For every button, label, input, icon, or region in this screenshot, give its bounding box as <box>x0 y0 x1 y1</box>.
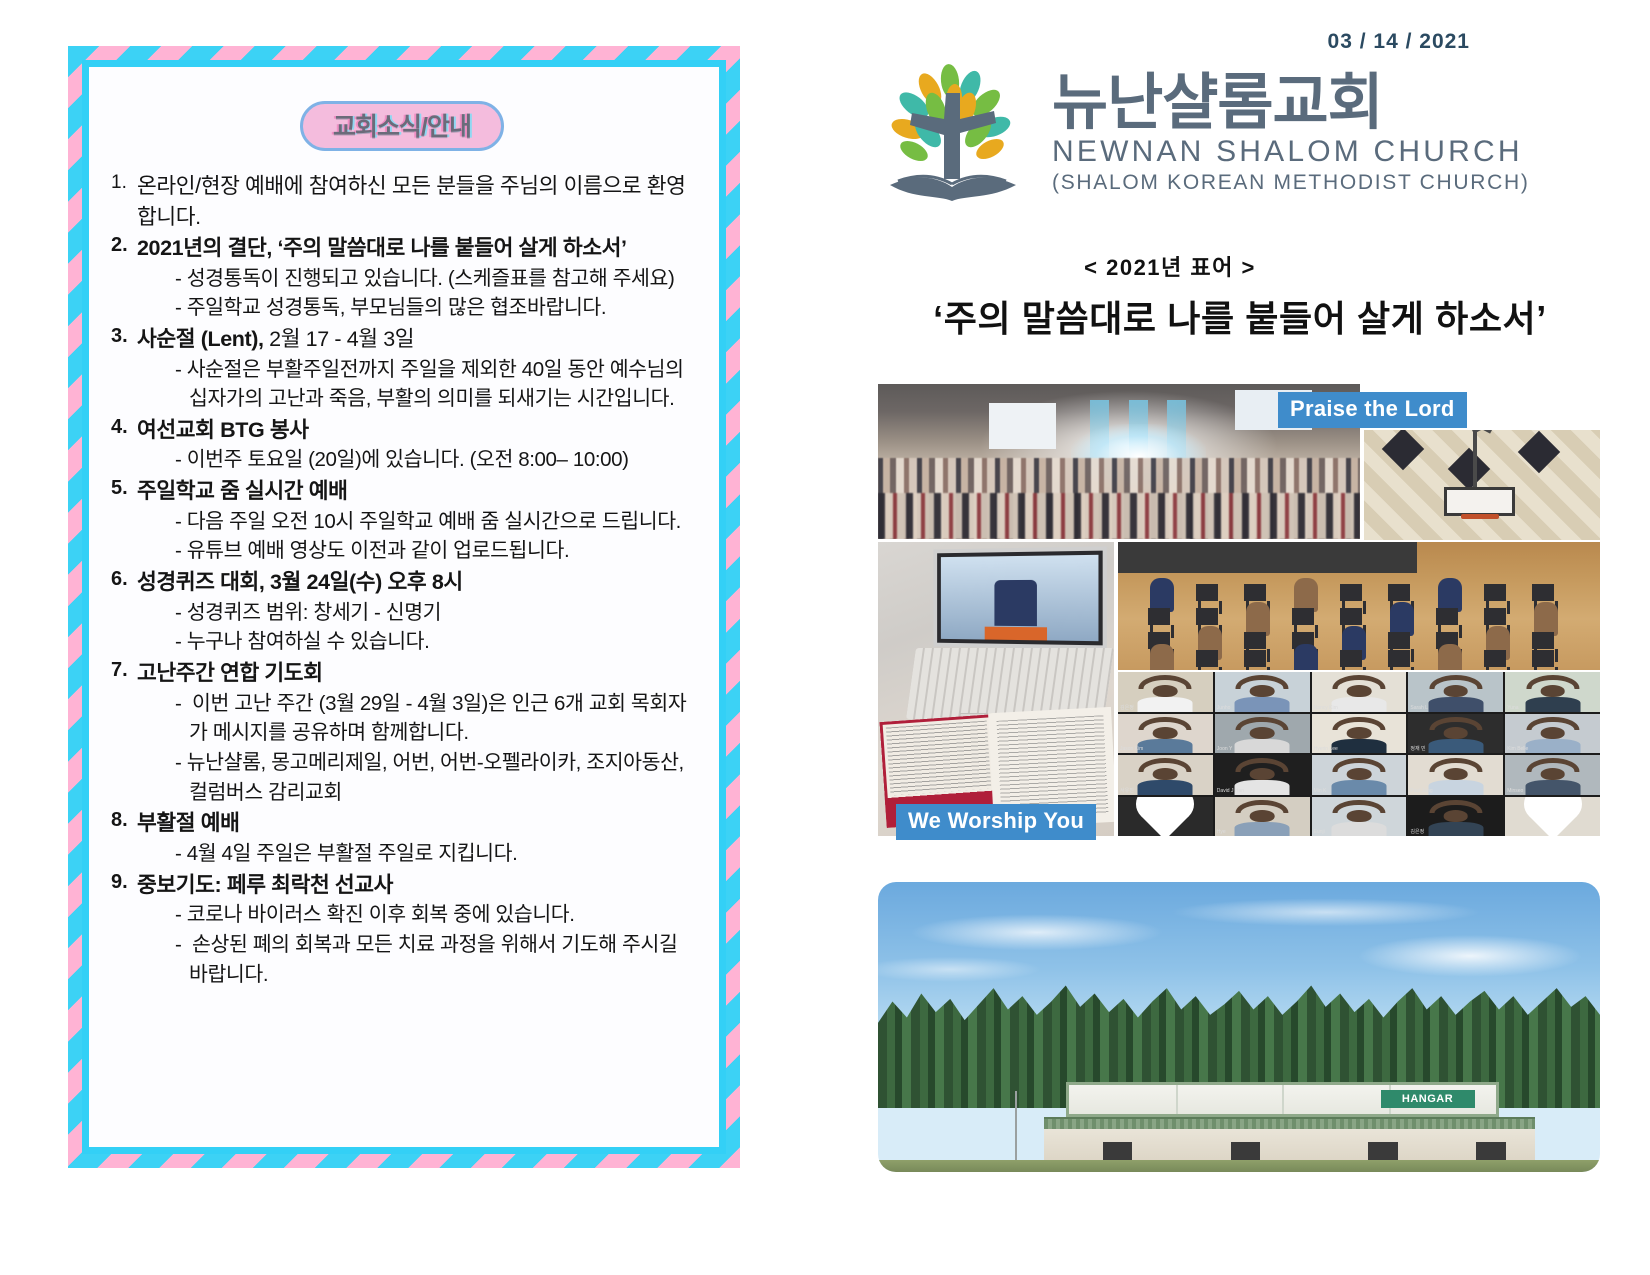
seated-person <box>1438 644 1462 670</box>
participant-name-label: Yuna <box>1507 705 1518 711</box>
announcement-subitem: - 성경통독이 진행되고 있습니다. (스케즐표를 참고해 주세요) <box>137 264 701 294</box>
announcement-subitem: - 주일학교 성경통독, 부모님들의 많은 협조바랍니다. <box>137 293 701 323</box>
announcements-content: 교회소식/안내 온라인/현장 예배에 참여하신 모든 분들을 주님의 이름으로 … <box>89 67 719 1147</box>
announcement-heading-detail: 2월 17 - 4월 3일 <box>264 327 415 351</box>
panel-title: 교회소식/안내 <box>300 101 504 151</box>
announcement-item: 온라인/현장 예배에 참여하신 모든 분들을 주님의 이름으로 환영합니다. <box>103 171 701 232</box>
announcement-subitem-text: - 4월 4일 주일은 부활절 주일로 지킵니다. <box>175 842 517 865</box>
participant-body <box>1525 780 1580 794</box>
announcement-subitem: - 사순절은 부활주일전까지 주일을 제외한 40일 동안 예수님의 <box>137 355 701 385</box>
participant-head <box>1540 685 1565 697</box>
zoom-participant-tile: Nancy Kim <box>1312 672 1407 712</box>
hangar-sign: HANGAR <box>1381 1090 1475 1108</box>
folding-chair <box>1532 650 1554 670</box>
participant-name-label: Min K <box>1314 788 1327 794</box>
zoom-participant-tile: Min K <box>1312 755 1407 795</box>
announcement-item: 중보기도: 페루 최락천 선교사- 코로나 바이러스 확진 이후 회복 중에 있… <box>103 870 701 990</box>
participant-head <box>1347 685 1372 697</box>
right-column: 03 / 14 / 2021 <box>830 0 1650 1275</box>
announcement-subitems: - 사순절은 부활주일전까지 주일을 제외한 40일 동안 예수님의십자가의 고… <box>137 355 701 414</box>
participant-name-label: Nancy Kim <box>1314 705 1338 711</box>
participant-body <box>1428 822 1483 836</box>
church-name-english: NEWNAN SHALOM CHURCH <box>1052 135 1530 169</box>
banner-we-worship-you: We Worship You <box>896 804 1096 840</box>
announcement-subitem-text: 컬럼버스 감리교회 <box>189 781 342 804</box>
announcement-subitem: - 4월 4일 주일은 부활절 주일로 지킵니다. <box>137 839 701 869</box>
announcement-heading: 부활절 예배 <box>137 808 701 839</box>
heart-icon <box>1141 797 1189 837</box>
participant-head <box>1347 768 1372 780</box>
participant-head <box>1347 727 1372 739</box>
announcement-item: 2021년의 결단, ‘주의 말씀대로 나를 붙들어 살게 하소서’- 성경통독… <box>103 233 701 323</box>
participant-name-label: Jason Kim <box>1120 746 1143 752</box>
participant-head <box>1250 685 1275 697</box>
announcement-heading: 2021년의 결단, ‘주의 말씀대로 나를 붙들어 살게 하소서’ <box>137 233 701 264</box>
participant-name-label: 정재 민 <box>1410 745 1425 752</box>
participant-body <box>1235 822 1290 836</box>
screen-left <box>989 403 1056 450</box>
photo-zoom-meeting-grid: 김은정JunhoNancy KimSarah LYunaJason KimJoo… <box>1118 672 1600 836</box>
announcement-subitem: 컬럼버스 감리교회 <box>137 778 701 808</box>
zoom-participant-tile: 정재 민 <box>1408 714 1503 754</box>
announcement-subitem-text: - 손상된 폐의 회복과 모든 치료 과정을 위해서 기도해 주시길 <box>175 933 677 956</box>
zoom-participant-tile: 서유진 <box>1118 755 1213 795</box>
participant-head <box>1250 727 1275 739</box>
zoom-participant-tile: Minseo <box>1505 755 1600 795</box>
participant-head <box>1443 685 1468 697</box>
zoom-participant-tile: David J Han <box>1215 755 1310 795</box>
announcement-subitem-text: - 성경퀴즈 범위: 창세기 - 신명기 <box>175 601 441 624</box>
announcement-heading: 온라인/현장 예배에 참여하신 모든 분들을 주님의 이름으로 환영 <box>137 171 701 202</box>
announcement-subitem: - 성경퀴즈 범위: 창세기 - 신명기 <box>137 598 701 628</box>
announcement-subitem-text: 십자가의 고난과 죽음, 부활의 의미를 되새기는 시간입니다. <box>189 387 674 410</box>
participant-head <box>1443 727 1468 739</box>
seated-person <box>1534 602 1558 636</box>
announcement-subitem: - 다음 주일 오전 10시 주일학교 예배 줌 실시간으로 드립니다. <box>137 507 701 537</box>
participant-name-label: Paul Jang <box>1410 788 1432 794</box>
announcement-subitem-text: - 누구나 참여하실 수 있습니다. <box>175 630 429 653</box>
folding-chair <box>1484 650 1506 670</box>
announcement-subitem: - 손상된 폐의 회복과 모든 치료 과정을 위해서 기도해 주시길 <box>137 930 701 960</box>
podium-on-screen <box>985 627 1048 641</box>
announcement-subitem: 십자가의 고난과 죽음, 부활의 의미를 되새기는 시간입니다. <box>137 384 701 414</box>
announcement-subitems: - 성경통독이 진행되고 있습니다. (스케즐표를 참고해 주세요)- 주일학교… <box>137 264 701 323</box>
participant-name-label: Hyerin Lee <box>1314 746 1338 752</box>
building-facade-band: HANGAR <box>1066 1082 1499 1117</box>
participant-name-label: 김은정 <box>1410 828 1424 835</box>
announcements-panel: 교회소식/안내 온라인/현장 예배에 참여하신 모든 분들을 주님의 이름으로 … <box>68 46 740 1168</box>
announcement-subitem-text: - 이번주 토요일 (20일)에 있습니다. (오전 8:00– 10:00) <box>175 448 629 471</box>
announcement-subitem: 바랍니다. <box>137 960 701 990</box>
announcement-subitem-text: - 유튜브 예배 영상도 이전과 같이 업로드됩니다. <box>175 539 569 562</box>
folding-chair <box>1196 650 1218 670</box>
participant-body <box>1525 697 1580 711</box>
announcement-subitem: - 뉴난샬롬, 몽고메리제일, 어번, 어번-오펠라이카, 조지아동산, <box>137 748 701 778</box>
announcement-subitems: - 이번주 토요일 (20일)에 있습니다. (오전 8:00– 10:00) <box>137 445 701 475</box>
folding-chair <box>1244 650 1266 670</box>
participant-body <box>1138 739 1193 753</box>
participant-body <box>1332 697 1387 711</box>
zoom-participant-tile: Hyerin Lee <box>1312 714 1407 754</box>
announcement-heading: 중보기도: 페루 최락천 선교사 <box>137 870 701 901</box>
church-logo-block: 뉴난샬롬교회 NEWNAN SHALOM CHURCH (SHALOM KORE… <box>870 58 1610 208</box>
announcement-subitem-text: 바랍니다. <box>189 963 268 986</box>
zoom-participant-tile: Sarah L <box>1408 672 1503 712</box>
announcement-subitems: - 4월 4일 주일은 부활절 주일로 지킵니다. <box>137 839 701 869</box>
grass-ground <box>878 1160 1600 1172</box>
participant-head <box>1153 685 1178 697</box>
announcement-subitem-text: - 다음 주일 오전 10시 주일학교 예배 줌 실시간으로 드립니다. <box>175 510 681 533</box>
basketball-backboard <box>1444 487 1515 516</box>
folding-chair <box>1388 650 1410 670</box>
announcement-subitem: - 이번 고난 주간 (3월 29일 - 4월 3일)은 인근 6개 교회 목회… <box>137 689 701 719</box>
church-name-block: 뉴난샬롬교회 NEWNAN SHALOM CHURCH (SHALOM KORE… <box>1052 71 1530 195</box>
participant-name-label: Joon Y <box>1217 746 1232 752</box>
participant-body <box>1428 780 1483 794</box>
slogan-year-label: < 2021년 표어 > <box>830 250 1510 282</box>
photo-church-building: HANGAR <box>878 882 1600 1172</box>
photo-gym-basketball-wall <box>1364 430 1600 540</box>
announcement-subitem: 가 메시지를 공유하며 함께합니다. <box>137 718 701 748</box>
panel-title-wrap: 교회소식/안내 <box>103 101 701 151</box>
utility-pole <box>1015 1091 1017 1161</box>
zoom-participant-tile: Hye <box>1215 797 1310 837</box>
laptop-screen <box>933 546 1106 649</box>
photo-collage: 김은정JunhoNancy KimSarah LYunaJason KimJoo… <box>878 384 1600 836</box>
participant-body <box>1332 822 1387 836</box>
announcement-list: 온라인/현장 예배에 참여하신 모든 분들을 주님의 이름으로 환영합니다.20… <box>103 171 701 989</box>
participant-body <box>1138 697 1193 711</box>
zoom-participant-tile: Kim Belle <box>1505 714 1600 754</box>
announcement-heading: 고난주간 연합 기도회 <box>137 658 701 689</box>
seated-person <box>1150 578 1174 612</box>
zoom-participant-tile: Joon Y <box>1215 714 1310 754</box>
participant-name-label: 서유진 <box>1120 787 1134 794</box>
seated-person <box>1294 578 1318 612</box>
participant-name-label: Hye <box>1217 829 1226 835</box>
zoom-participant-tile: Jason Kim <box>1118 714 1213 754</box>
participant-body <box>1428 697 1483 711</box>
participant-name-label: Sarah L <box>1410 705 1428 711</box>
seated-person <box>1246 602 1270 636</box>
participant-head <box>1250 810 1275 822</box>
church-name-korean: 뉴난샬롬교회 <box>1052 71 1530 133</box>
announcement-item: 주일학교 줌 실시간 예배- 다음 주일 오전 10시 주일학교 예배 줌 실시… <box>103 476 701 566</box>
participant-head <box>1153 727 1178 739</box>
participant-name-label: Kim Belle <box>1507 746 1528 752</box>
announcement-item: 고난주간 연합 기도회- 이번 고난 주간 (3월 29일 - 4월 3일)은 … <box>103 658 701 807</box>
participant-body <box>1332 739 1387 753</box>
participant-name-label: Minseo <box>1507 788 1523 794</box>
announcement-item: 성경퀴즈 대회, 3월 24일(수) 오후 8시- 성경퀴즈 범위: 창세기 -… <box>103 567 701 657</box>
photo-gym-distanced-seating <box>1118 542 1600 670</box>
zoom-participant-tile: Eunji <box>1312 797 1407 837</box>
announcement-heading-continued: 합니다. <box>137 202 701 233</box>
announcement-subitem-text: - 이번 고난 주간 (3월 29일 - 4월 3일)은 인근 6개 교회 목회… <box>175 692 686 715</box>
gym-stage <box>1118 542 1417 573</box>
participant-name-label: Junho <box>1217 705 1231 711</box>
participant-name-label: David J Han <box>1217 788 1244 794</box>
seated-person <box>1390 602 1414 636</box>
preacher-on-screen <box>994 579 1037 625</box>
church-name-english-sub: (SHALOM KOREAN METHODIST CHURCH) <box>1052 171 1530 195</box>
participant-head <box>1443 768 1468 780</box>
announcement-heading: 주일학교 줌 실시간 예배 <box>137 476 701 507</box>
basketball-rim <box>1461 514 1499 519</box>
zoom-participant-tile: 김은정 <box>1118 672 1213 712</box>
participant-head <box>1443 810 1468 822</box>
participant-name-label: Eunji <box>1314 829 1325 835</box>
participant-body <box>1235 739 1290 753</box>
heart-icon <box>1529 797 1577 837</box>
announcement-subitem: - 누구나 참여하실 수 있습니다. <box>137 627 701 657</box>
photo-laptop-and-bibles <box>878 542 1114 836</box>
participant-body <box>1138 780 1193 794</box>
announcement-subitem: - 이번주 토요일 (20일)에 있습니다. (오전 8:00– 10:00) <box>137 445 701 475</box>
announcement-subitem-text: - 코로나 바이러스 확진 이후 회복 중에 있습니다. <box>175 903 575 926</box>
zoom-participant-tile: Yuna <box>1505 672 1600 712</box>
announcement-subitem-text: - 뉴난샬롬, 몽고메리제일, 어번, 어번-오펠라이카, 조지아동산, <box>175 751 684 774</box>
announcement-subitem-text: - 성경통독이 진행되고 있습니다. (스케즐표를 참고해 주세요) <box>175 267 674 290</box>
zoom-participant-tile <box>1118 797 1213 837</box>
announcement-subitem: - 코로나 바이러스 확진 이후 회복 중에 있습니다. <box>137 900 701 930</box>
participant-head <box>1540 727 1565 739</box>
participant-head <box>1153 768 1178 780</box>
seated-person <box>1150 644 1174 670</box>
announcement-subitem-text: - 사순절은 부활주일전까지 주일을 제외한 40일 동안 예수님의 <box>175 358 684 381</box>
participant-body <box>1235 697 1290 711</box>
announcement-item: 부활절 예배- 4월 4일 주일은 부활절 주일로 지킵니다. <box>103 808 701 868</box>
banner-praise-the-lord: Praise the Lord <box>1278 392 1467 428</box>
participant-head <box>1250 768 1275 780</box>
announcement-subitems: - 코로나 바이러스 확진 이후 회복 중에 있습니다.- 손상된 폐의 회복과… <box>137 900 701 989</box>
announcement-subitem-text: 가 메시지를 공유하며 함께합니다. <box>189 721 469 744</box>
announcement-heading: 여선교회 BTG 봉사 <box>137 415 701 446</box>
folding-chair <box>1340 650 1362 670</box>
announcement-subitem-text: - 주일학교 성경통독, 부모님들의 많은 협조바랍니다. <box>175 296 606 319</box>
seated-person <box>1294 644 1318 670</box>
announcement-subitem: - 유튜브 예배 영상도 이전과 같이 업로드됩니다. <box>137 536 701 566</box>
participant-body <box>1332 780 1387 794</box>
announcement-subitems: - 성경퀴즈 범위: 창세기 - 신명기- 누구나 참여하실 수 있습니다. <box>137 598 701 657</box>
announcement-subitems: - 다음 주일 오전 10시 주일학교 예배 줌 실시간으로 드립니다.- 유튜… <box>137 507 701 566</box>
slogan-motto: ‘주의 말씀대로 나를 붙들어 살게 하소서’ <box>830 290 1650 342</box>
zoom-participant-tile: Paul Jang <box>1408 755 1503 795</box>
participant-body <box>1525 739 1580 753</box>
bulletin-date: 03 / 14 / 2021 <box>1328 30 1470 54</box>
zoom-participant-tile: 김은정 <box>1408 797 1503 837</box>
congregation-front-row <box>878 493 1360 540</box>
church-tree-cross-logo-icon <box>870 59 1038 207</box>
seated-person <box>1438 578 1462 612</box>
announcement-heading: 사순절 (Lent), <box>137 327 264 351</box>
zoom-participant-tile: Junho <box>1215 672 1310 712</box>
announcement-item: 사순절 (Lent), 2월 17 - 4월 3일- 사순절은 부활주일전까지 … <box>103 324 701 414</box>
participant-body <box>1428 739 1483 753</box>
announcement-item: 여선교회 BTG 봉사- 이번주 토요일 (20일)에 있습니다. (오전 8:… <box>103 415 701 475</box>
participant-head <box>1347 810 1372 822</box>
participant-name-label: 김은정 <box>1120 704 1134 711</box>
zoom-participant-tile <box>1505 797 1600 837</box>
announcement-heading: 성경퀴즈 대회, 3월 24일(수) 오후 8시 <box>137 567 701 598</box>
announcement-subitems: - 이번 고난 주간 (3월 29일 - 4월 3일)은 인근 6개 교회 목회… <box>137 689 701 808</box>
participant-head <box>1540 768 1565 780</box>
